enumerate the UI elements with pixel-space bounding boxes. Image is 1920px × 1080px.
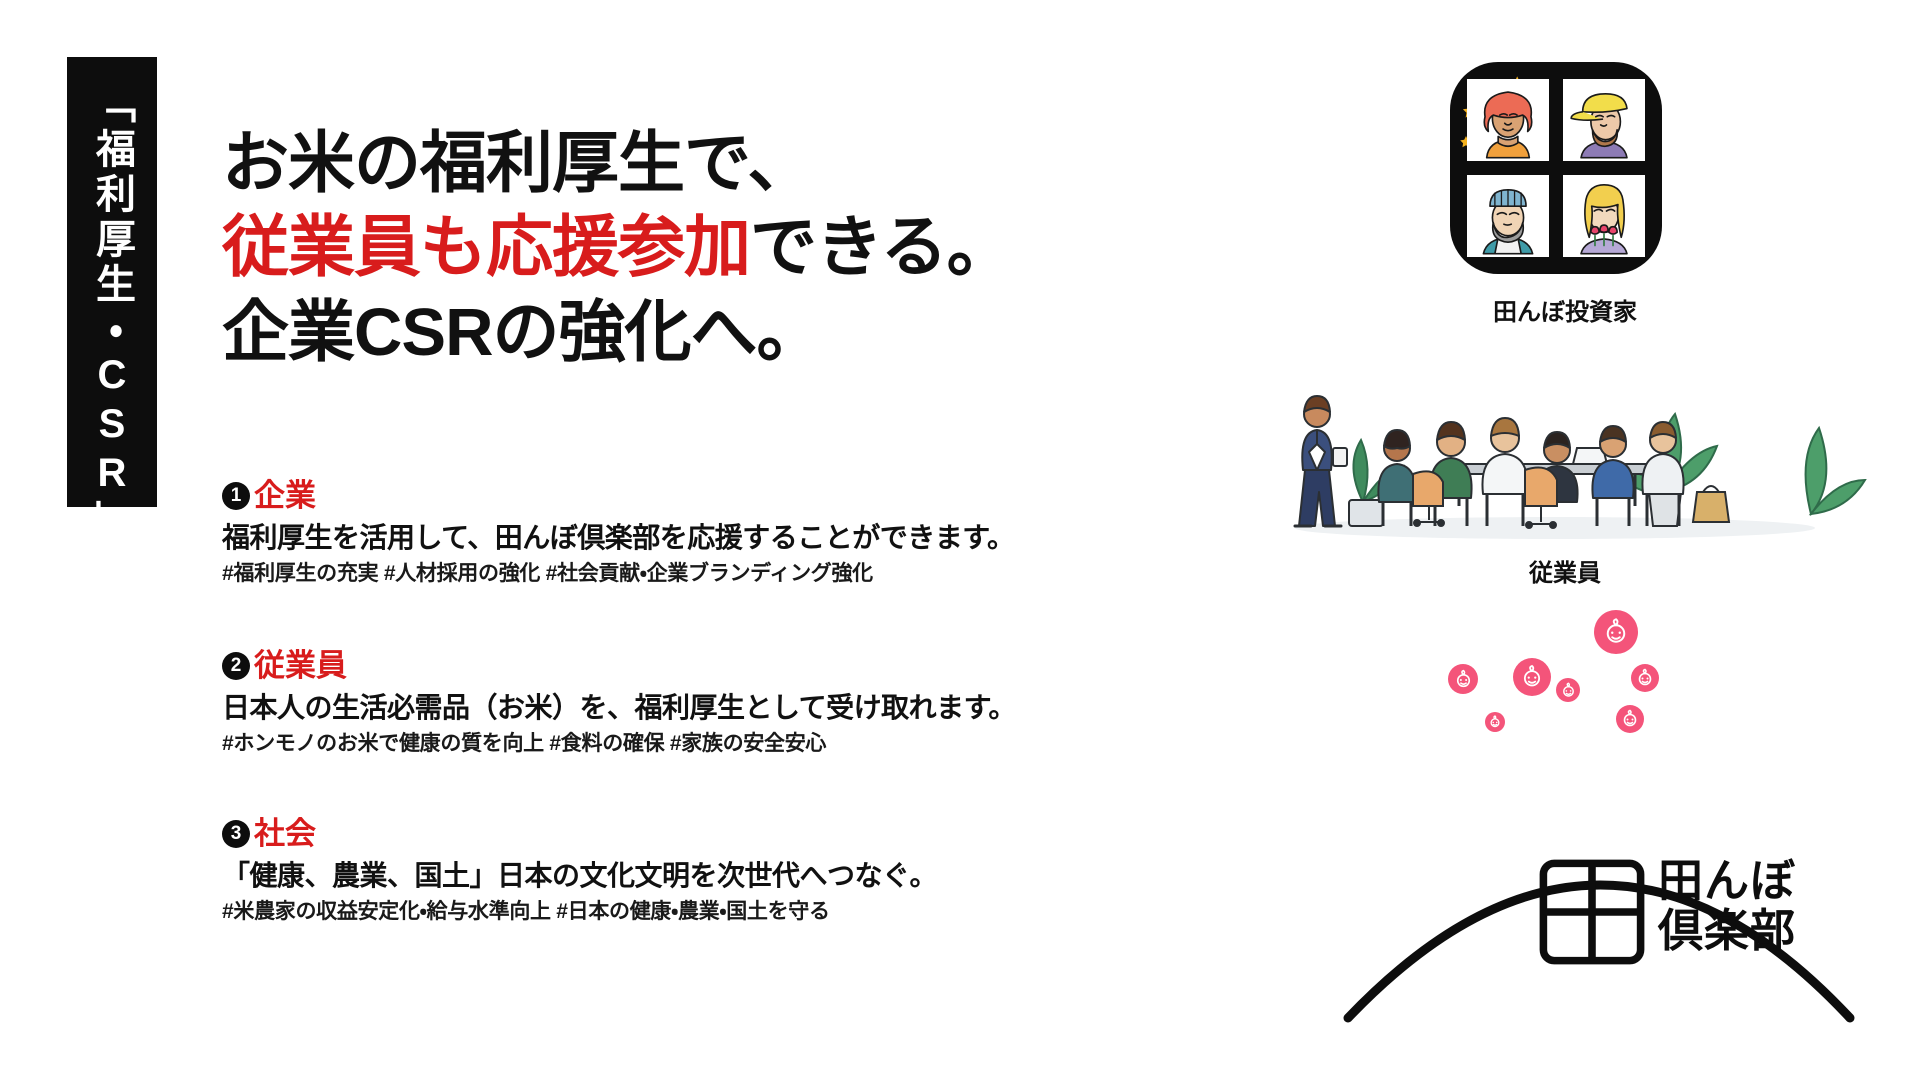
section-heading: 3 社会 — [222, 818, 937, 849]
logo-line-2: 倶楽部 — [1658, 906, 1796, 956]
meeting-illustration — [1245, 352, 1885, 542]
investor-caption: 田んぼ投資家 — [1450, 292, 1680, 327]
number-badge-1: 1 — [222, 482, 250, 510]
benefit-section-company: 1 企業 福利厚生を活用して、田んぼ倶楽部を応援することができます。 #福利厚生… — [222, 480, 1014, 588]
investor-face-2 — [1563, 79, 1645, 161]
face-badge-icon — [1448, 664, 1478, 694]
face-badge-icon — [1485, 712, 1505, 732]
section-body-1: 福利厚生を活用して、田んぼ倶楽部を応援することができます。 — [222, 520, 1014, 556]
side-tab: 「福利厚生・CSR」 — [67, 57, 157, 507]
section-tags-3: #米農家の収益安定化・給与水準向上 #日本の健康・農業・国土を守る — [222, 898, 937, 925]
benefit-section-society: 3 社会 「健康、農業、国土」日本の文化文明を次世代へつなぐ。 #米農家の収益安… — [222, 818, 937, 926]
slide-root: 「福利厚生・CSR」 お米の福利厚生で、 従業員も応援参加できる。 企業CSRの… — [0, 0, 1920, 1080]
section-heading: 1 企業 — [222, 480, 1014, 511]
investor-face-1 — [1467, 79, 1549, 161]
headline-line-2: 従業員も応援参加できる。 — [222, 206, 1013, 290]
section-title-1: 企業 — [254, 480, 316, 511]
investor-icon-group: 田んぼ投資家 — [1450, 62, 1680, 327]
investor-face-3 — [1467, 175, 1549, 257]
section-tags-1: #福利厚生の充実 #人材採用の強化 #社会貢献・企業ブランディング強化 — [222, 560, 1014, 587]
headline-accent: 従業員も応援参加 — [222, 210, 750, 285]
section-title-2: 従業員 — [254, 650, 347, 681]
face-badge-icon — [1594, 610, 1638, 654]
headline-line-1: お米の福利厚生で、 — [222, 122, 1013, 206]
number-badge-2: 2 — [222, 652, 250, 680]
section-title-3: 社会 — [254, 818, 316, 849]
headline-line-3: 企業CSRの強化へ。 — [222, 291, 1013, 375]
tanbo-app-icon — [1450, 62, 1662, 274]
rice-grain-faces-group — [1442, 618, 1762, 758]
face-badge-icon — [1616, 705, 1644, 733]
face-badge-icon — [1631, 664, 1659, 692]
number-badge-3: 3 — [222, 820, 250, 848]
face-badge-icon — [1556, 678, 1580, 702]
employee-meeting-illustration-group: 従業員 — [1245, 352, 1885, 588]
section-heading: 2 従業員 — [222, 650, 1016, 681]
tanbo-club-logo: 田んぼ 倶楽部 — [1340, 760, 1880, 1060]
section-tags-2: #ホンモノのお米で健康の質を向上 #食料の確保 #家族の安全安心 — [222, 730, 1016, 757]
headline-line-2-rest: できる。 — [750, 210, 1013, 285]
right-graphics-column: 田んぼ投資家 — [1290, 0, 1920, 1080]
page-title: お米の福利厚生で、 従業員も応援参加できる。 企業CSRの強化へ。 — [222, 122, 1013, 375]
employee-caption: 従業員 — [1245, 553, 1885, 588]
rice-paddy-grid-icon — [1538, 858, 1646, 966]
section-body-3: 「健康、農業、国土」日本の文化文明を次世代へつなぐ。 — [222, 858, 937, 894]
logo-wordmark: 田んぼ 倶楽部 — [1658, 856, 1796, 957]
benefit-section-employee: 2 従業員 日本人の生活必需品（お米）を、福利厚生として受け取れます。 #ホンモ… — [222, 650, 1016, 758]
logo-line-1: 田んぼ — [1658, 856, 1796, 906]
section-body-2: 日本人の生活必需品（お米）を、福利厚生として受け取れます。 — [222, 690, 1016, 726]
investor-face-4 — [1563, 175, 1645, 257]
side-tab-label: 「福利厚生・CSR」 — [92, 83, 132, 545]
face-badge-icon — [1513, 658, 1551, 696]
